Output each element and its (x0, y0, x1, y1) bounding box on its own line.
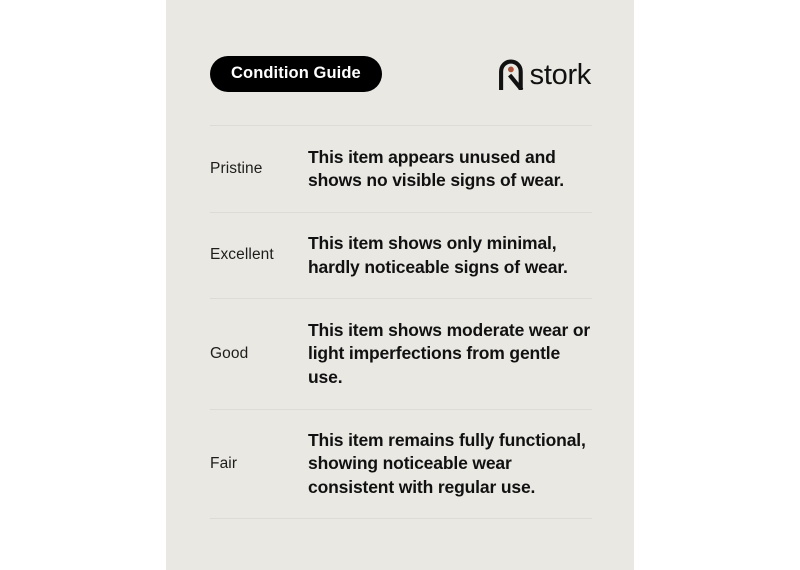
brand-lockup: stork (498, 59, 591, 90)
stork-arch-logo-icon (498, 59, 524, 90)
table-row: Excellent This item shows only minimal, … (210, 213, 592, 298)
table-divider-bottom (210, 518, 592, 519)
condition-label: Fair (210, 455, 308, 474)
screenshot-stage: Condition Guide stork Pristine This item… (0, 0, 800, 570)
condition-description: This item shows moderate wear or light i… (308, 319, 592, 389)
table-row: Pristine This item appears unused and sh… (210, 126, 592, 212)
condition-label: Excellent (210, 246, 308, 265)
table-row: Good This item shows moderate wear or li… (210, 299, 592, 409)
card-header: Condition Guide stork (210, 55, 592, 93)
condition-guide-card: Condition Guide stork Pristine This item… (166, 0, 634, 570)
condition-description: This item remains fully functional, show… (308, 429, 592, 499)
table-row: Fair This item remains fully functional,… (210, 410, 592, 518)
condition-description: This item shows only minimal, hardly not… (308, 232, 592, 279)
condition-description: This item appears unused and shows no vi… (308, 146, 592, 193)
condition-table: Pristine This item appears unused and sh… (210, 125, 592, 519)
condition-label: Good (210, 345, 308, 364)
brand-wordmark: stork (530, 61, 591, 90)
condition-guide-badge: Condition Guide (210, 56, 382, 93)
condition-label: Pristine (210, 160, 308, 179)
